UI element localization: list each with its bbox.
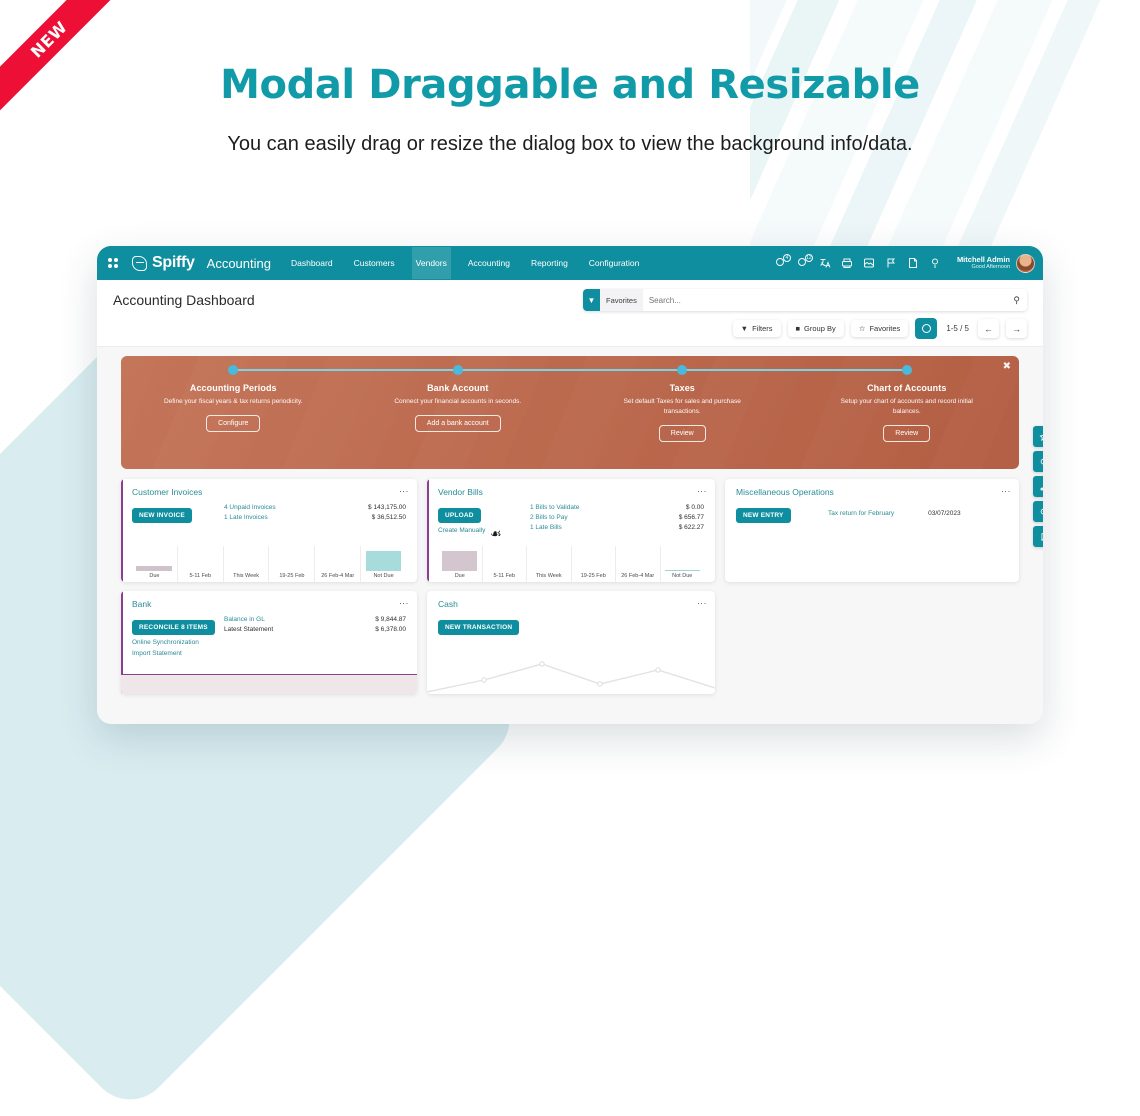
app-topbar: Spiffy Accounting Dashboard Customers Ve… xyxy=(97,246,1043,280)
bar-label: Due xyxy=(455,571,465,582)
unpaid-invoices-amount: $ 143,175.00 xyxy=(368,504,406,511)
menu-item-accounting[interactable]: Accounting xyxy=(464,247,514,279)
headline-section: Modal Draggable and Resizable You can ea… xyxy=(0,0,1140,159)
circle-icon xyxy=(922,324,931,333)
bar-label: 5-11 Feb xyxy=(493,571,515,582)
onboarding-step-taxes: Taxes Set default Taxes for sales and pu… xyxy=(570,356,795,469)
onboarding-step-bank-account: Bank Account Connect your financial acco… xyxy=(346,356,571,469)
onboarding-step-accounting-periods: Accounting Periods Define your fiscal ye… xyxy=(121,356,346,469)
balance-in-gl-label[interactable]: Balance in GL xyxy=(224,616,273,623)
user-greeting: Good Afternoon xyxy=(957,264,1010,270)
brand-name: Spiffy xyxy=(152,254,195,272)
card-menu-icon[interactable]: ⋮ xyxy=(401,599,406,608)
reconcile-button[interactable]: RECONCILE 8 ITEMS xyxy=(132,620,215,635)
filter-icon: ▼ xyxy=(741,324,748,333)
control-panel: Accounting Dashboard ▼ Favorites ⚲ ▼ Fil… xyxy=(97,280,1043,347)
filters-button[interactable]: ▼ Filters xyxy=(733,320,781,337)
search-bar[interactable]: ▼ Favorites ⚲ xyxy=(583,289,1027,311)
journal-cards-row-2: Bank ⋮ RECONCILE 8 ITEMS Online Synchron… xyxy=(121,591,1019,694)
new-invoice-button[interactable]: NEW INVOICE xyxy=(132,508,192,523)
groupby-button[interactable]: ■ Group By xyxy=(788,320,844,337)
main-menu: Dashboard Customers Vendors Accounting R… xyxy=(287,246,643,280)
pager-count: 1-5 / 5 xyxy=(946,324,969,333)
bookmark-icon-button[interactable] xyxy=(1033,526,1043,547)
menu-item-customers[interactable]: Customers xyxy=(350,247,399,279)
star-icon: ☆ xyxy=(859,324,866,333)
balance-in-gl-amount: $ 9,844.87 xyxy=(375,616,406,623)
user-menu[interactable]: Mitchell Admin Good Afternoon xyxy=(957,254,1035,273)
bank-progress-bar xyxy=(121,674,417,694)
print-icon[interactable] xyxy=(841,257,853,269)
app-window: Spiffy Accounting Dashboard Customers Ve… xyxy=(97,246,1043,724)
messages-icon[interactable]: 4 xyxy=(775,257,787,269)
step-title: Bank Account xyxy=(346,383,571,393)
add-bank-account-button[interactable]: Add a bank account xyxy=(415,415,501,432)
step-title: Taxes xyxy=(570,383,795,393)
breadcrumb: Accounting Dashboard xyxy=(113,292,255,308)
step-description: Setup your chart of accounts and record … xyxy=(795,397,1020,417)
bills-to-pay-amount: $ 656.77 xyxy=(679,514,704,521)
search-icon-button[interactable] xyxy=(1033,451,1043,472)
step-connector xyxy=(795,369,907,371)
groupby-icon: ■ xyxy=(796,324,801,333)
upload-button[interactable]: UPLOAD xyxy=(438,508,481,523)
bar-label: Not Due xyxy=(672,571,692,582)
unpaid-invoices-label[interactable]: 4 Unpaid Invoices xyxy=(224,504,276,511)
search-icon[interactable]: ⚲ xyxy=(1013,295,1020,306)
menu-item-vendors[interactable]: Vendors xyxy=(412,247,451,279)
page-title: Modal Draggable and Resizable xyxy=(0,62,1140,108)
activities-icon[interactable]: 12 xyxy=(797,257,809,269)
systray: 4 12 xyxy=(775,254,1035,273)
bills-to-validate-amount: $ 0.00 xyxy=(679,504,704,511)
card-title: Cash xyxy=(438,599,458,609)
card-title: Bank xyxy=(132,599,151,609)
card-title: Vendor Bills xyxy=(438,487,483,497)
new-entry-button[interactable]: NEW ENTRY xyxy=(736,508,791,523)
action-rail xyxy=(1033,426,1043,547)
translate-icon[interactable] xyxy=(819,257,831,269)
step-description: Set default Taxes for sales and purchase… xyxy=(570,397,795,417)
bulb-icon[interactable] xyxy=(929,257,941,269)
pager-next-button[interactable]: → xyxy=(1006,319,1027,338)
late-bills-amount: $ 622.27 xyxy=(679,524,704,531)
menu-item-configuration[interactable]: Configuration xyxy=(585,247,644,279)
latest-statement-label: Latest Statement xyxy=(224,626,273,633)
latest-statement-amount: $ 6,378.00 xyxy=(375,626,406,633)
card-menu-icon[interactable]: ⋮ xyxy=(1003,487,1008,496)
mouse-cursor-icon: ☙ xyxy=(490,526,502,542)
configure-button[interactable]: Configure xyxy=(206,415,260,432)
online-synchronization-link[interactable]: Online Synchronization xyxy=(132,639,224,646)
bar-label: Not Due xyxy=(373,571,393,582)
card-customer-invoices[interactable]: Customer Invoices ⋮ NEW INVOICE 4 Unpaid… xyxy=(121,479,417,582)
search-input[interactable] xyxy=(649,296,1008,305)
bar-label: This Week xyxy=(233,571,259,582)
card-menu-icon[interactable]: ⋮ xyxy=(699,599,704,608)
menu-item-dashboard[interactable]: Dashboard xyxy=(287,247,337,279)
kanban-view-button[interactable] xyxy=(915,318,937,339)
step-dot-icon xyxy=(677,365,687,375)
step-description: Connect your financial accounts in secon… xyxy=(346,397,571,407)
step-dot-icon xyxy=(453,365,463,375)
card-menu-icon[interactable]: ⋮ xyxy=(401,487,406,496)
avatar[interactable] xyxy=(1016,254,1035,273)
onboarding-step-chart-of-accounts: Chart of Accounts Setup your chart of ac… xyxy=(795,356,1020,469)
bills-to-validate-label[interactable]: 1 Bills to Validate xyxy=(530,504,579,511)
step-title: Chart of Accounts xyxy=(795,383,1020,393)
menu-item-reporting[interactable]: Reporting xyxy=(527,247,572,279)
bar-label: 19-25 Feb xyxy=(581,571,606,582)
onboarding-banner: ✖ Accounting Periods Define your fiscal … xyxy=(121,356,1019,469)
onboarding-steps: Accounting Periods Define your fiscal ye… xyxy=(121,356,1019,469)
new-transaction-button[interactable]: NEW TRANSACTION xyxy=(438,620,519,635)
late-invoices-label[interactable]: 1 Late Invoices xyxy=(224,514,276,521)
tax-return-date: 03/07/2023 xyxy=(928,510,961,517)
activities-badge: 12 xyxy=(805,254,813,262)
current-app-name: Accounting xyxy=(207,256,271,271)
zoom-icon-button[interactable] xyxy=(1033,501,1043,522)
bar-label: 26 Feb-4 Mar xyxy=(621,571,654,582)
late-bills-label[interactable]: 1 Late Bills xyxy=(530,524,579,531)
expand-icon-button[interactable] xyxy=(1033,476,1043,497)
journal-cards-row-1: Customer Invoices ⋮ NEW INVOICE 4 Unpaid… xyxy=(121,479,1019,582)
messages-badge: 4 xyxy=(783,254,791,262)
late-invoices-amount: $ 36,512.50 xyxy=(368,514,406,521)
card-title: Miscellaneous Operations xyxy=(736,487,834,497)
apps-grid-icon[interactable] xyxy=(108,258,118,268)
card-cash[interactable]: Cash ⋮ NEW TRANSACTION xyxy=(427,591,715,694)
favorites-label: Favorites xyxy=(869,324,900,333)
bar-label: Due xyxy=(149,571,159,582)
new-ribbon: NEW xyxy=(0,0,132,132)
favorites-button[interactable]: ☆ Favorites xyxy=(851,320,909,337)
brand-logo[interactable]: Spiffy xyxy=(132,254,195,272)
new-ribbon-label: NEW xyxy=(0,0,120,111)
gallery-icon[interactable] xyxy=(863,257,875,269)
page-subtitle: You can easily drag or resize the dialog… xyxy=(0,130,1140,159)
search-facet-favorites[interactable]: ▼ Favorites xyxy=(583,289,643,311)
step-dot-icon xyxy=(902,365,912,375)
card-miscellaneous-operations[interactable]: Miscellaneous Operations ⋮ NEW ENTRY Tax… xyxy=(725,479,1019,582)
bills-to-pay-label[interactable]: 2 Bills to Pay xyxy=(530,514,579,521)
user-name: Mitchell Admin xyxy=(957,256,1010,265)
card-bank[interactable]: Bank ⋮ RECONCILE 8 ITEMS Online Synchron… xyxy=(121,591,417,694)
card-title: Customer Invoices xyxy=(132,487,202,497)
step-dot-icon xyxy=(228,365,238,375)
tax-return-label[interactable]: Tax return for February xyxy=(828,510,894,517)
card-menu-icon[interactable]: ⋮ xyxy=(699,487,704,496)
bills-aging-chart: Due 5-11 Feb This Week 19-25 Feb 26 Feb-… xyxy=(438,546,704,582)
star-icon-button[interactable] xyxy=(1033,426,1043,447)
filter-funnel-icon: ▼ xyxy=(583,289,600,311)
step-connector xyxy=(233,369,345,371)
bar-label: 5-11 Feb xyxy=(189,571,211,582)
pager-previous-button[interactable]: ← xyxy=(978,319,999,338)
groupby-label: Group By xyxy=(804,324,836,333)
invoice-aging-chart: Due 5-11 Feb This Week 19-25 Feb 26 Feb-… xyxy=(132,546,406,582)
filters-label: Filters xyxy=(752,324,772,333)
note-icon[interactable] xyxy=(907,257,919,269)
review-coa-button[interactable]: Review xyxy=(883,425,930,442)
spiffy-mark-icon xyxy=(132,256,147,271)
search-facet-label: Favorites xyxy=(600,289,643,311)
import-statement-link[interactable]: Import Statement xyxy=(132,650,224,657)
review-taxes-button[interactable]: Review xyxy=(659,425,706,442)
cash-trend-chart xyxy=(427,648,715,694)
bar-label: 19-25 Feb xyxy=(279,571,304,582)
dashboard-board: ✖ Accounting Periods Define your fiscal … xyxy=(97,347,1043,706)
flag-icon[interactable] xyxy=(885,257,897,269)
step-description: Define your fiscal years & tax returns p… xyxy=(121,397,346,407)
step-title: Accounting Periods xyxy=(121,383,346,393)
bar-label: 26 Feb-4 Mar xyxy=(321,571,354,582)
bar-label: This Week xyxy=(536,571,562,582)
card-vendor-bills[interactable]: Vendor Bills ⋮ UPLOAD Create Manually 1 … xyxy=(427,479,715,582)
create-manually-link[interactable]: Create Manually xyxy=(438,527,530,534)
